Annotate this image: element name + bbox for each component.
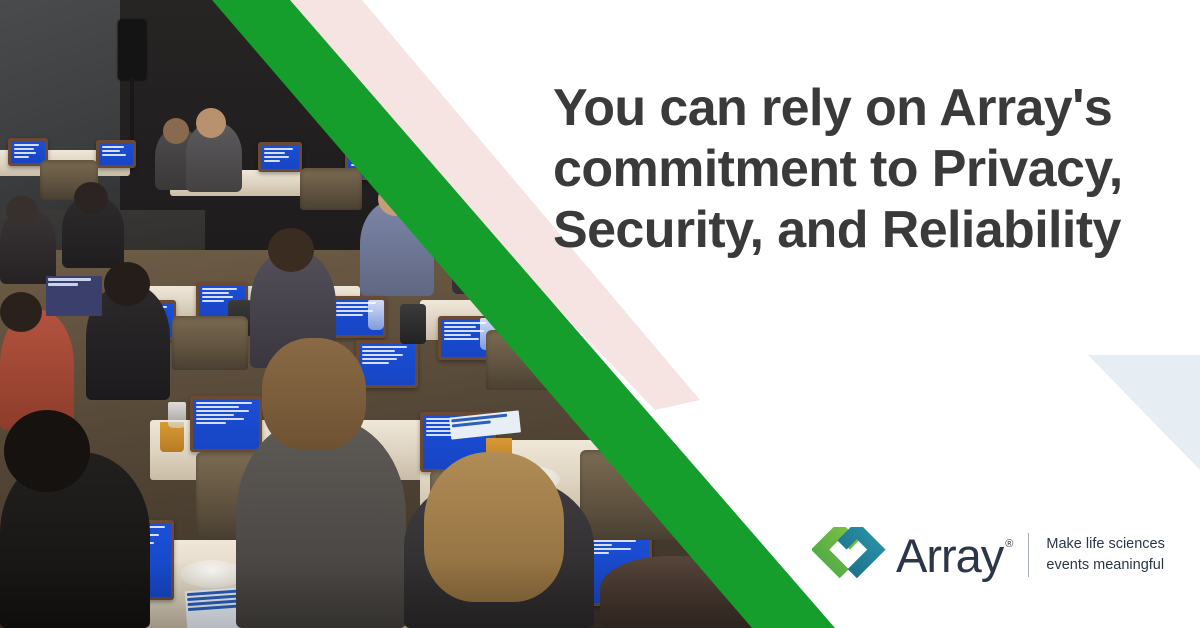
headline-line-1: You can rely on Array's	[553, 78, 1163, 139]
array-wordmark: Array ®	[896, 532, 1013, 579]
array-logo-icon	[812, 527, 890, 583]
tablet-far-3	[258, 142, 302, 172]
attendee-mid-b-head	[104, 262, 150, 306]
page-title: You can rely on Array's commitment to Pr…	[553, 78, 1163, 260]
carafe-2	[400, 304, 426, 344]
logo-tagline-line-2: events meaningful	[1046, 555, 1164, 576]
attendee-front-woman-grey-hair	[262, 338, 366, 450]
attendee-far-c-head	[74, 182, 108, 214]
tablet-far-2	[96, 140, 136, 168]
chair-mid-1	[172, 316, 248, 370]
tablet-front-1	[190, 396, 262, 452]
logo-tagline: Make life sciences events meaningful	[1046, 534, 1164, 575]
banner-canvas: You can rely on Array's commitment to Pr…	[0, 0, 1200, 628]
attendee-far-d-head	[6, 196, 38, 226]
array-wordmark-text: Array	[896, 532, 1003, 579]
attendee-front-suit-head	[4, 410, 90, 492]
attendee-far-a-head	[163, 118, 189, 144]
headline-line-2: commitment to Privacy,	[553, 139, 1163, 200]
photo-bottom-vignette	[0, 560, 760, 628]
headline-line-3: Security, and Reliability	[553, 200, 1163, 261]
logo-divider	[1028, 533, 1029, 577]
attendee-far-b-head	[196, 108, 226, 138]
attendee-mid-c-head	[0, 292, 42, 332]
attendee-mid-a-head	[268, 228, 314, 272]
glass-front-1	[168, 402, 186, 428]
logo-tagline-line-1: Make life sciences	[1046, 534, 1164, 555]
pa-speaker-icon	[118, 20, 146, 80]
glass-mid-1	[368, 300, 384, 330]
array-logo-lockup[interactable]: Array ® Make life sciences events meanin…	[812, 524, 1165, 586]
registered-trademark-icon: ®	[1005, 538, 1013, 550]
chair-far-2	[300, 168, 362, 210]
tent-card	[46, 276, 102, 316]
